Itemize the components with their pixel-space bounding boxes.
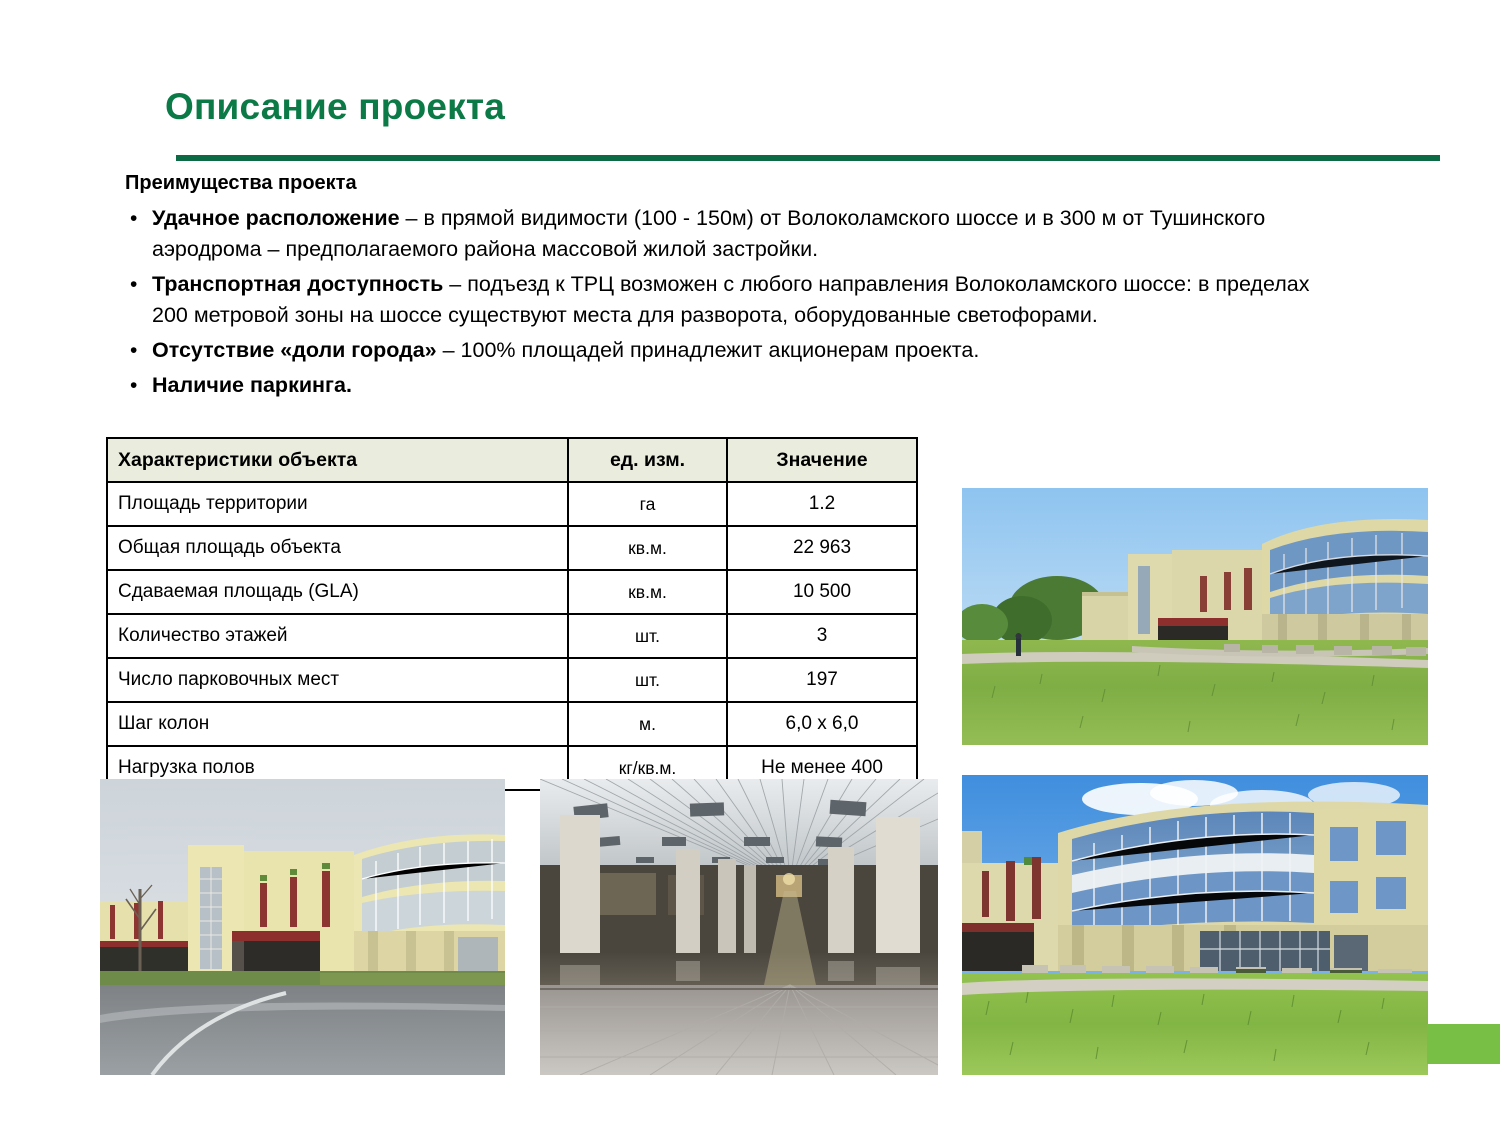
- bullet-marker-icon: •: [125, 335, 152, 366]
- table-header-row: Характеристики объекта ед. изм. Значение: [107, 438, 917, 482]
- cell-characteristic: Количество этажей: [107, 614, 568, 658]
- photo-exterior-sunny-wide-image: [962, 488, 1428, 745]
- list-item: • Транспортная доступность – подъезд к Т…: [125, 269, 1335, 331]
- title-divider: [176, 155, 1440, 161]
- cell-unit: шт.: [568, 658, 727, 702]
- cell-characteristic: Сдаваемая площадь (GLA): [107, 570, 568, 614]
- cell-value: 3: [727, 614, 917, 658]
- list-item-lead: Транспортная доступность: [152, 272, 443, 296]
- object-specifications-table: Характеристики объекта ед. изм. Значение…: [106, 437, 918, 791]
- photo-interior-hall-image: [540, 779, 938, 1075]
- list-item-text: Наличие паркинга.: [152, 370, 1335, 401]
- cell-characteristic: Площадь территории: [107, 482, 568, 526]
- column-header-value: Значение: [727, 438, 917, 482]
- photo-exterior-facade: [962, 775, 1428, 1075]
- table-row: Шаг колон м. 6,0 х 6,0: [107, 702, 917, 746]
- list-item-rest: – 100% площадей принадлежит акционерам п…: [437, 338, 980, 362]
- list-item-text: Транспортная доступность – подъезд к ТРЦ…: [152, 269, 1335, 331]
- cell-unit: га: [568, 482, 727, 526]
- photo-exterior-sunny-wide: [962, 488, 1428, 745]
- cell-value: 1.2: [727, 482, 917, 526]
- photo-exterior-overcast-image: [100, 779, 505, 1075]
- photo-exterior-overcast: [100, 779, 505, 1075]
- list-item-text: Отсутствие «доли города» – 100% площадей…: [152, 335, 1335, 366]
- list-item-lead: Наличие паркинга.: [152, 373, 352, 397]
- list-item-lead: Отсутствие «доли города»: [152, 338, 437, 362]
- list-item: • Наличие паркинга.: [125, 370, 1335, 401]
- bullet-marker-icon: •: [125, 203, 152, 234]
- table-row: Общая площадь объекта кв.м. 22 963: [107, 526, 917, 570]
- list-item-text: Удачное расположение – в прямой видимост…: [152, 203, 1335, 265]
- bullet-marker-icon: •: [125, 269, 152, 300]
- photo-interior-hall: [540, 779, 938, 1075]
- cell-value: 10 500: [727, 570, 917, 614]
- table-row: Число парковочных мест шт. 197: [107, 658, 917, 702]
- cell-unit: кв.м.: [568, 570, 727, 614]
- advantages-bullet-list: • Удачное расположение – в прямой видимо…: [125, 203, 1335, 405]
- cell-value: 6,0 х 6,0: [727, 702, 917, 746]
- cell-unit: шт.: [568, 614, 727, 658]
- cell-unit: кв.м.: [568, 526, 727, 570]
- advantages-heading: Преимущества проекта: [125, 172, 357, 195]
- table-row: Количество этажей шт. 3: [107, 614, 917, 658]
- table-row: Площадь территории га 1.2: [107, 482, 917, 526]
- photo-exterior-facade-image: [962, 775, 1428, 1075]
- column-header-unit: ед. изм.: [568, 438, 727, 482]
- cell-unit: м.: [568, 702, 727, 746]
- cell-characteristic: Общая площадь объекта: [107, 526, 568, 570]
- cell-value: 197: [727, 658, 917, 702]
- list-item: • Отсутствие «доли города» – 100% площад…: [125, 335, 1335, 366]
- list-item: • Удачное расположение – в прямой видимо…: [125, 203, 1335, 265]
- cell-value: 22 963: [727, 526, 917, 570]
- column-header-characteristic: Характеристики объекта: [107, 438, 568, 482]
- table-row: Сдаваемая площадь (GLA) кв.м. 10 500: [107, 570, 917, 614]
- corner-accent-block: [1427, 1024, 1500, 1064]
- cell-characteristic: Число парковочных мест: [107, 658, 568, 702]
- bullet-marker-icon: •: [125, 370, 152, 401]
- cell-characteristic: Шаг колон: [107, 702, 568, 746]
- page-title: Описание проекта: [165, 86, 505, 128]
- list-item-lead: Удачное расположение: [152, 206, 400, 230]
